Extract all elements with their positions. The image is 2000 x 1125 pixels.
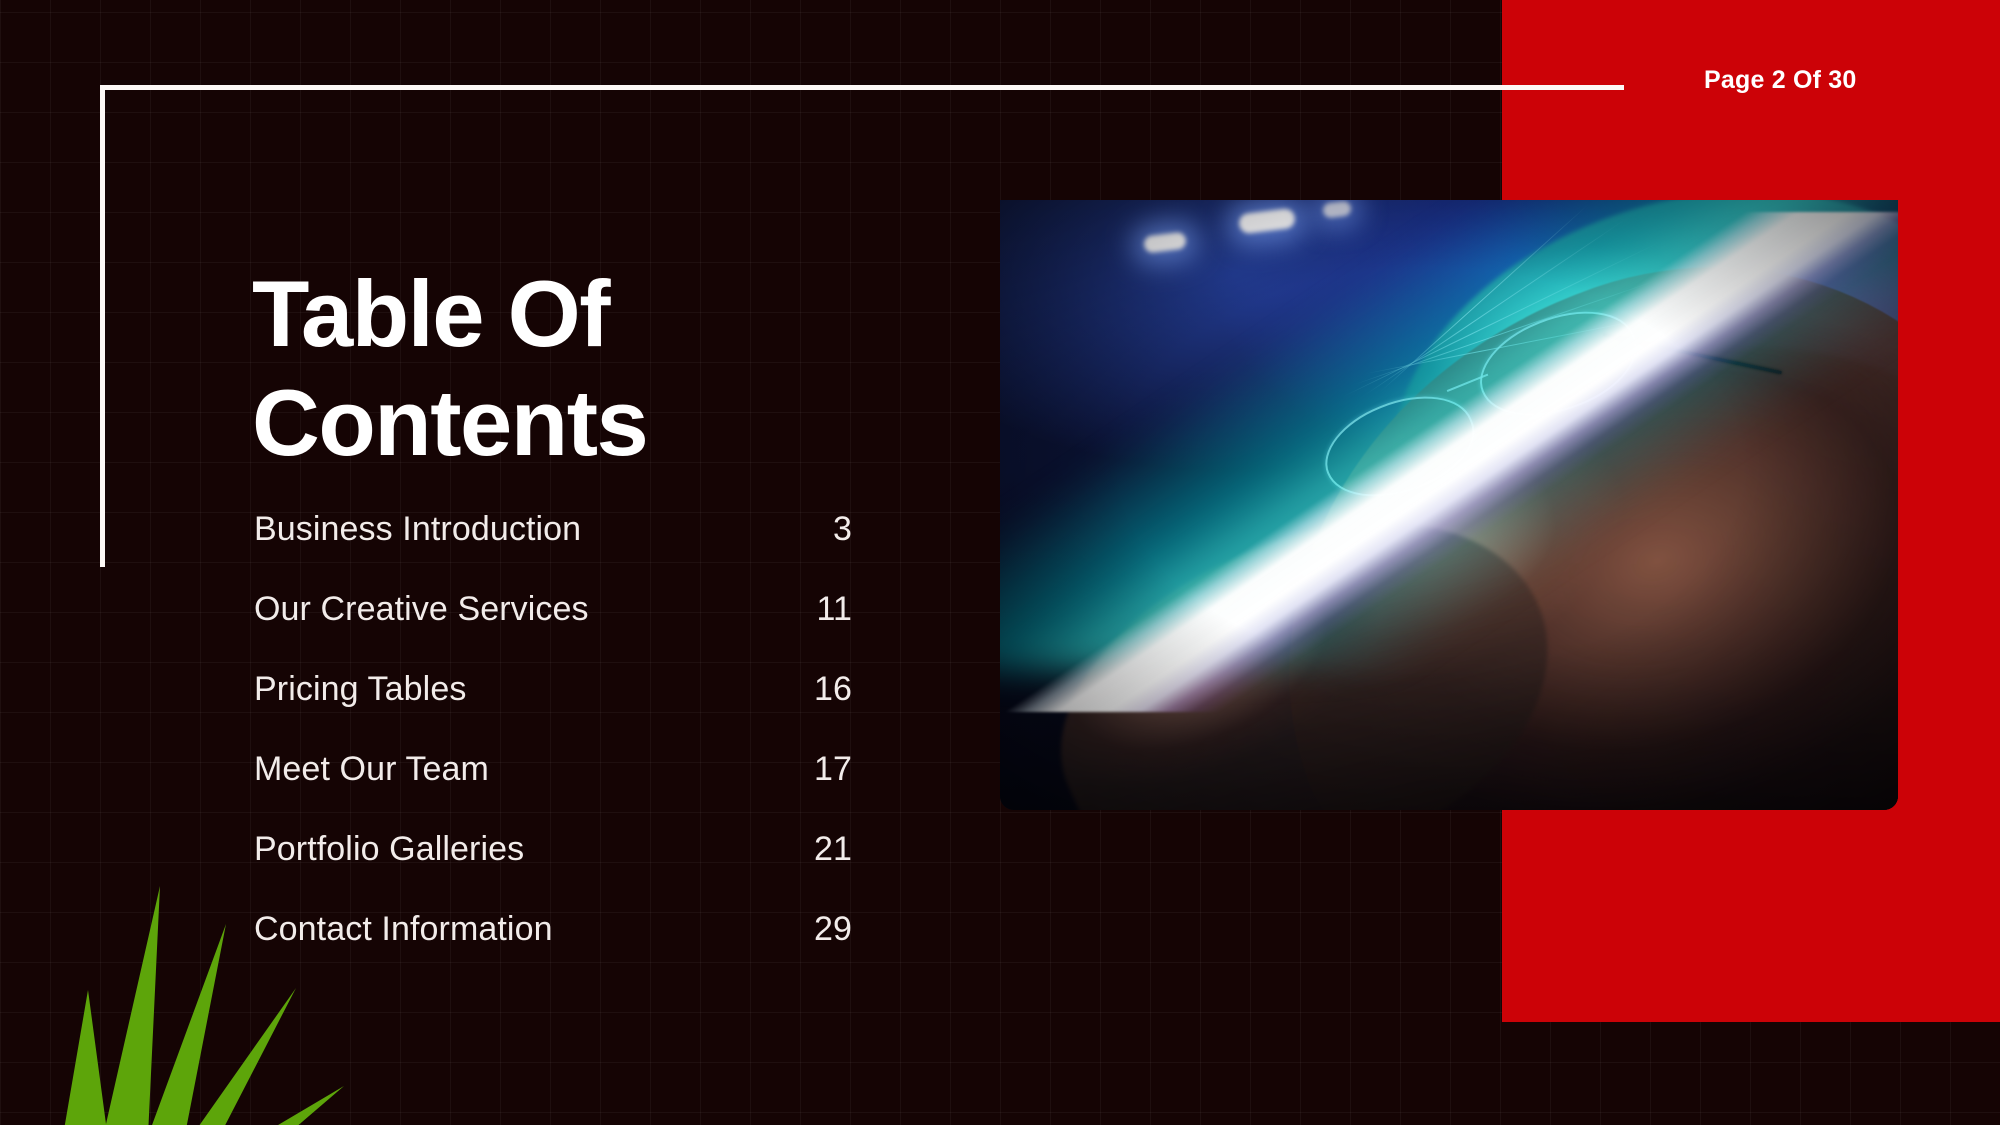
toc-entry-label: Our Creative Services <box>254 590 589 629</box>
photo-vignette <box>1000 200 1898 810</box>
toc-entry[interactable]: Meet Our Team 17 <box>254 750 852 830</box>
toc-entry[interactable]: Portfolio Galleries 21 <box>254 830 852 910</box>
bracket-vertical-rule <box>100 85 105 567</box>
toc-entry-page: 11 <box>806 590 852 629</box>
toc-entry-page: 17 <box>806 750 852 789</box>
slide-canvas: Page 2 Of 30 Table Of Contents Business … <box>0 0 2000 1125</box>
toc-entry-label: Contact Information <box>254 910 553 949</box>
page-title-line-1: Table Of <box>252 259 647 368</box>
toc-entry[interactable]: Contact Information 29 <box>254 910 852 990</box>
toc-entry-label: Meet Our Team <box>254 750 489 789</box>
toc-entry-label: Business Introduction <box>254 510 581 549</box>
toc-entry-page: 3 <box>806 510 852 549</box>
photo-composite <box>1000 200 1898 810</box>
toc-entry-page: 29 <box>806 910 852 949</box>
page-title-line-2: Contents <box>252 368 647 477</box>
hero-photo <box>1000 200 1898 810</box>
toc-entry[interactable]: Pricing Tables 16 <box>254 670 852 750</box>
page-title: Table Of Contents <box>252 259 647 477</box>
toc-entry[interactable]: Our Creative Services 11 <box>254 590 852 670</box>
toc-entry-page: 21 <box>806 830 852 869</box>
toc-entry-label: Pricing Tables <box>254 670 466 709</box>
toc-entry-label: Portfolio Galleries <box>254 830 524 869</box>
toc-entry[interactable]: Business Introduction 3 <box>254 510 852 590</box>
table-of-contents-list: Business Introduction 3 Our Creative Ser… <box>254 510 852 990</box>
toc-entry-page: 16 <box>806 670 852 709</box>
bracket-horizontal-rule <box>100 85 1624 90</box>
page-indicator: Page 2 Of 30 <box>1704 66 1856 95</box>
